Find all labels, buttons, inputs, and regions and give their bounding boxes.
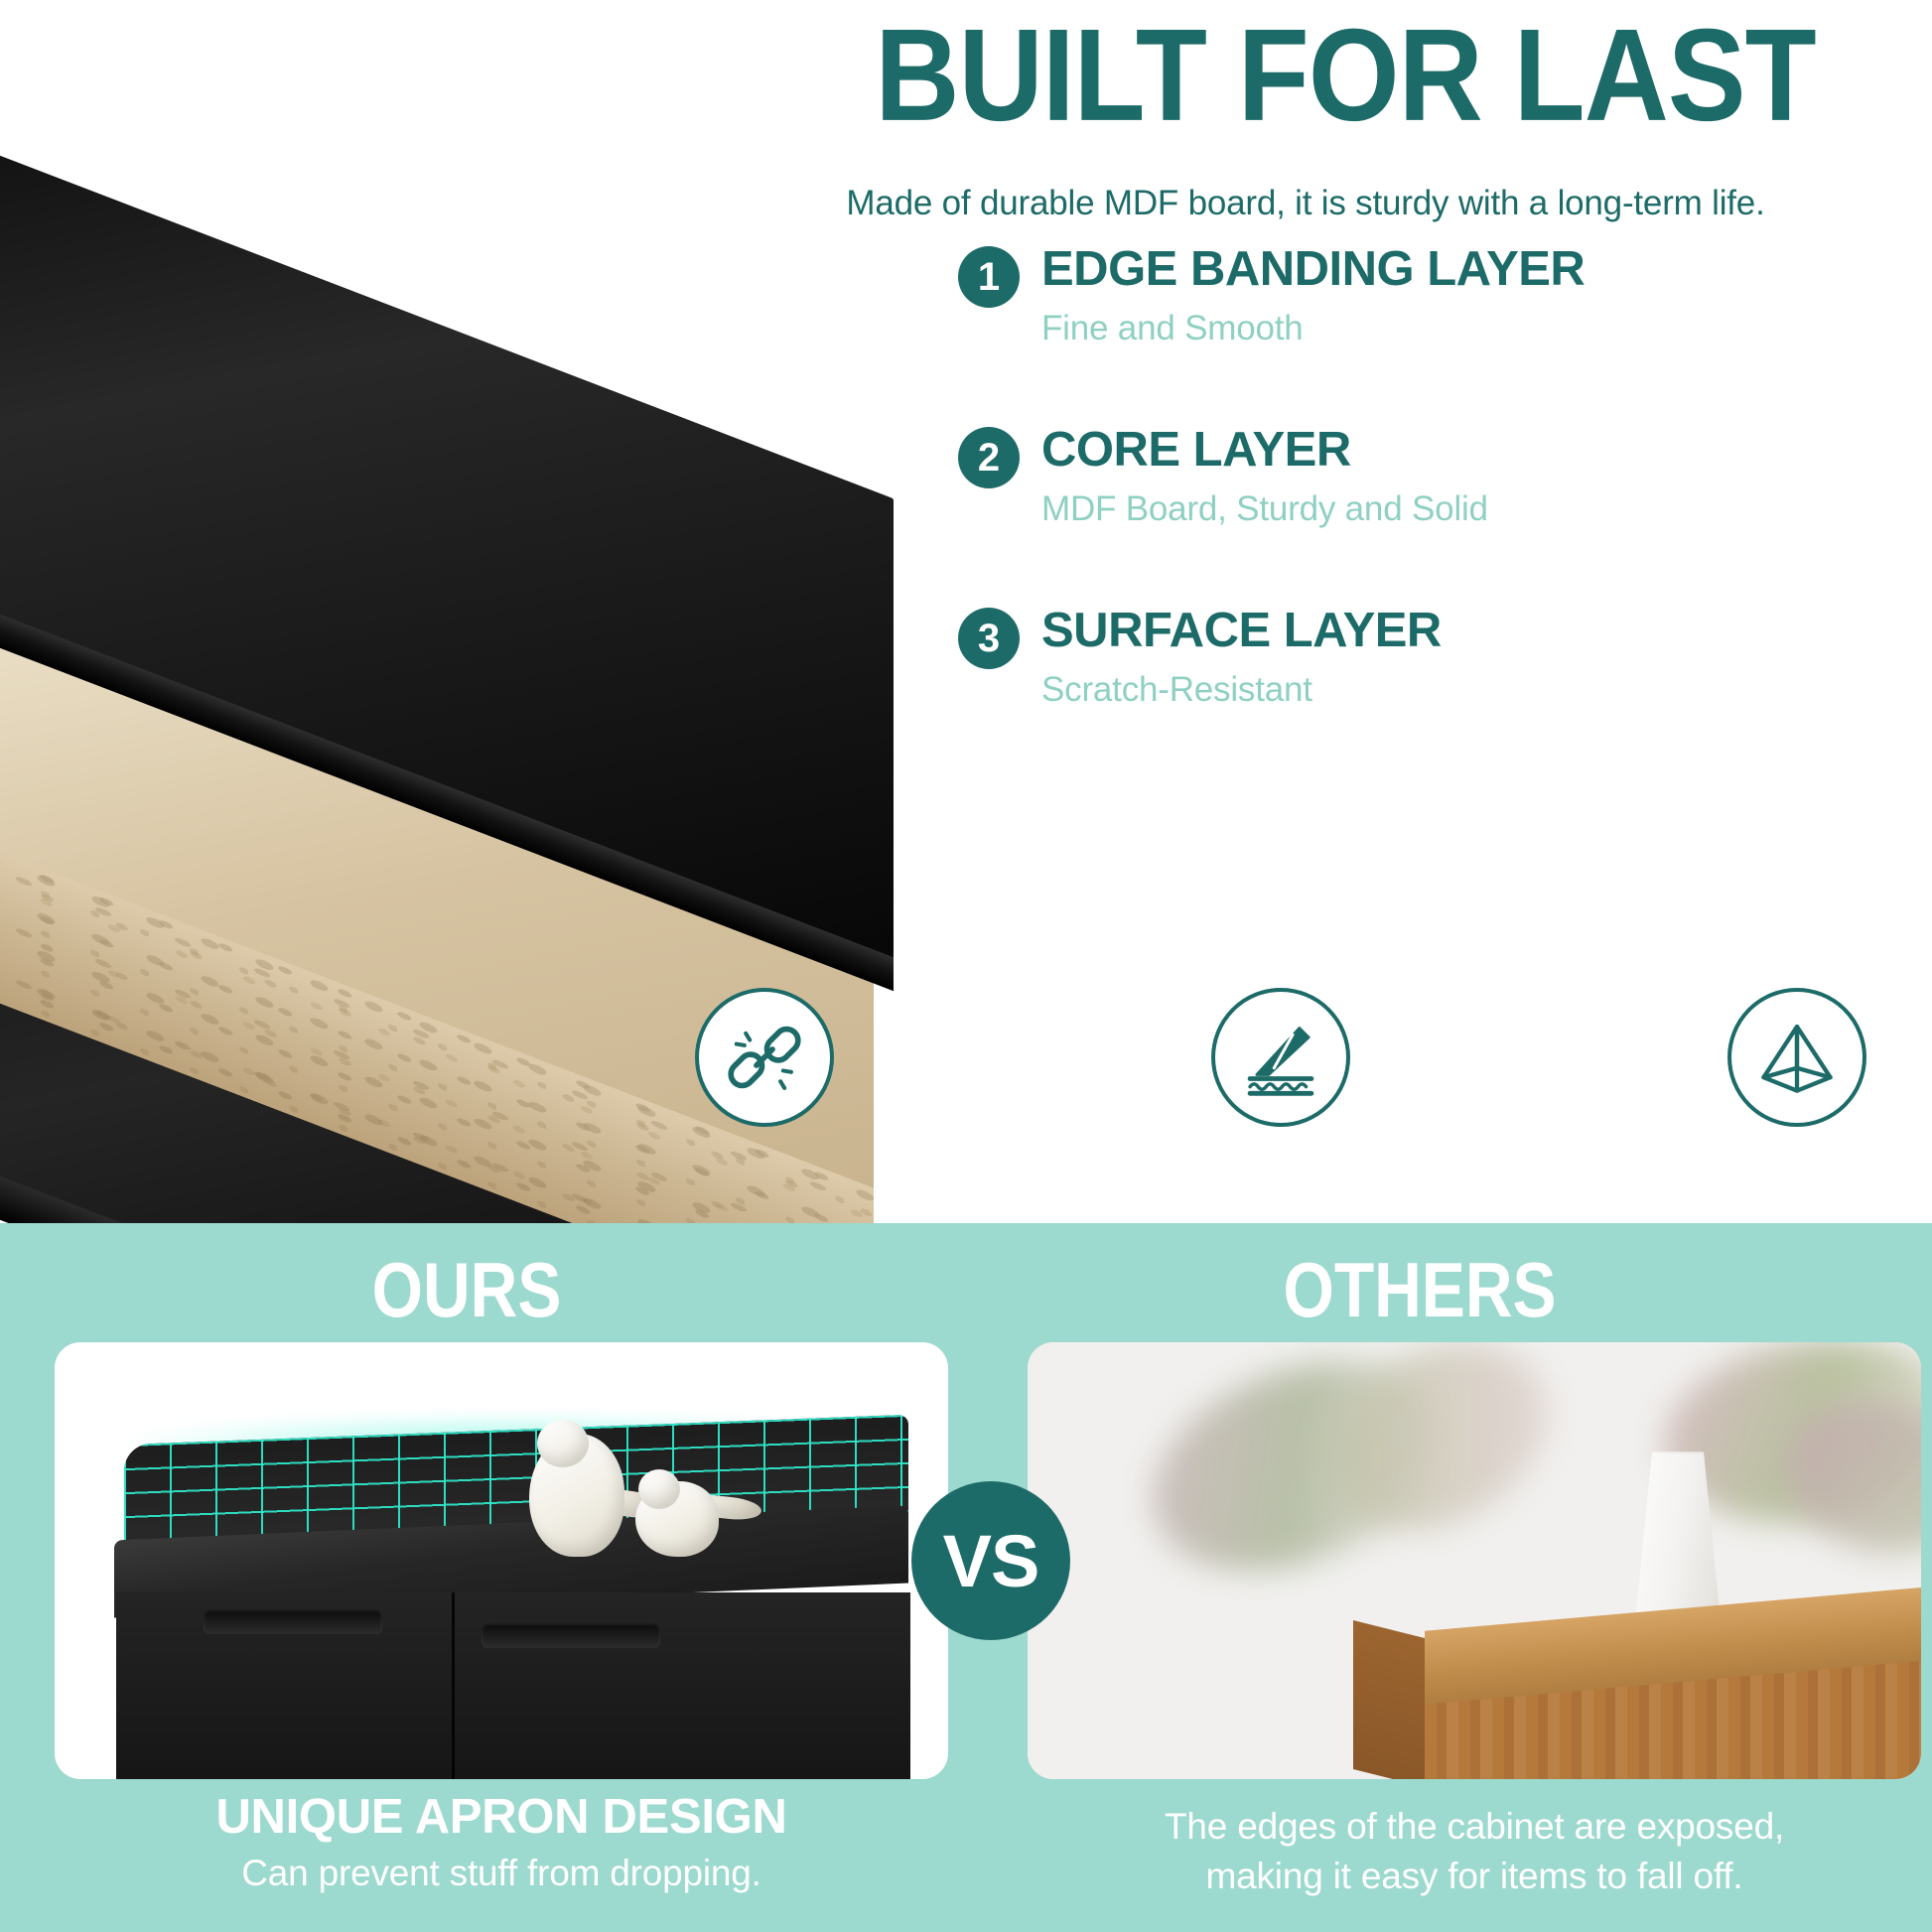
blade-scratch-icon xyxy=(1211,988,1350,1127)
feature-subtitle-1: Fine and Smooth xyxy=(1041,309,1585,348)
comparison-heading-others: OTHERS xyxy=(1072,1245,1767,1334)
comparison-caption-others: The edges of the cabinet are exposed, ma… xyxy=(1018,1802,1931,1901)
others-caption-line2: making it easy for items to fall off. xyxy=(1018,1852,1931,1901)
wood-cabinet-side xyxy=(1353,1620,1433,1779)
page-subtitle: Made of durable MDF board, it is sturdy … xyxy=(695,184,1916,223)
feature-title-3: SURFACE LAYER xyxy=(1041,606,1442,656)
feature-text-block-2: CORE LAYER MDF Board, Sturdy and Solid xyxy=(1041,425,1488,529)
benefit-icon-row xyxy=(695,988,1866,1127)
ceramic-bird-small-head xyxy=(638,1469,680,1509)
feature-title-2: CORE LAYER xyxy=(1041,425,1488,476)
vs-badge: VS xyxy=(911,1481,1070,1640)
comparison-caption-ours: UNIQUE APRON DESIGN Can prevent stuff fr… xyxy=(45,1791,958,1896)
feature-number-badge-2: 2 xyxy=(958,427,1020,488)
feature-item-surface-layer: 3 SURFACE LAYER Scratch-Resistant xyxy=(958,606,1442,710)
ours-cabinet-photo xyxy=(55,1342,948,1779)
comparison-panel-ours xyxy=(55,1342,948,1779)
durability-section: BUILT FOR LAST Made of durable MDF board… xyxy=(0,0,1932,1223)
feature-subtitle-2: MDF Board, Sturdy and Solid xyxy=(1041,489,1488,529)
cabinet-handle-left xyxy=(204,1608,382,1634)
others-caption-line1: The edges of the cabinet are exposed, xyxy=(1018,1802,1931,1852)
ceramic-bird-large-head xyxy=(537,1420,589,1467)
infographic-page: BUILT FOR LAST Made of durable MDF board… xyxy=(0,0,1932,1932)
cabinet-handle-right xyxy=(482,1622,660,1648)
feature-text-block-3: SURFACE LAYER Scratch-Resistant xyxy=(1041,606,1442,710)
comparison-heading-ours: OURS xyxy=(119,1245,814,1334)
feature-item-edge-banding: 1 EDGE BANDING LAYER Fine and Smooth xyxy=(958,244,1585,348)
feature-text-block-1: EDGE BANDING LAYER Fine and Smooth xyxy=(1041,244,1585,348)
ours-caption-subtitle: Can prevent stuff from dropping. xyxy=(45,1851,958,1896)
feature-item-core-layer: 2 CORE LAYER MDF Board, Sturdy and Solid xyxy=(958,425,1488,529)
feature-number-badge-1: 1 xyxy=(958,246,1020,308)
feature-subtitle-3: Scratch-Resistant xyxy=(1041,670,1442,710)
page-title: BUILT FOR LAST xyxy=(774,10,1916,141)
ours-caption-title: UNIQUE APRON DESIGN xyxy=(45,1791,958,1845)
cabinet-door-split xyxy=(452,1592,455,1779)
feature-number-badge-3: 3 xyxy=(958,608,1020,669)
broken-chain-link-icon xyxy=(695,988,834,1127)
feature-title-1: EDGE BANDING LAYER xyxy=(1041,244,1585,295)
wireframe-pyramid-icon xyxy=(1727,988,1866,1127)
others-cabinet-photo xyxy=(1028,1342,1921,1779)
comparison-panel-others xyxy=(1028,1342,1921,1779)
